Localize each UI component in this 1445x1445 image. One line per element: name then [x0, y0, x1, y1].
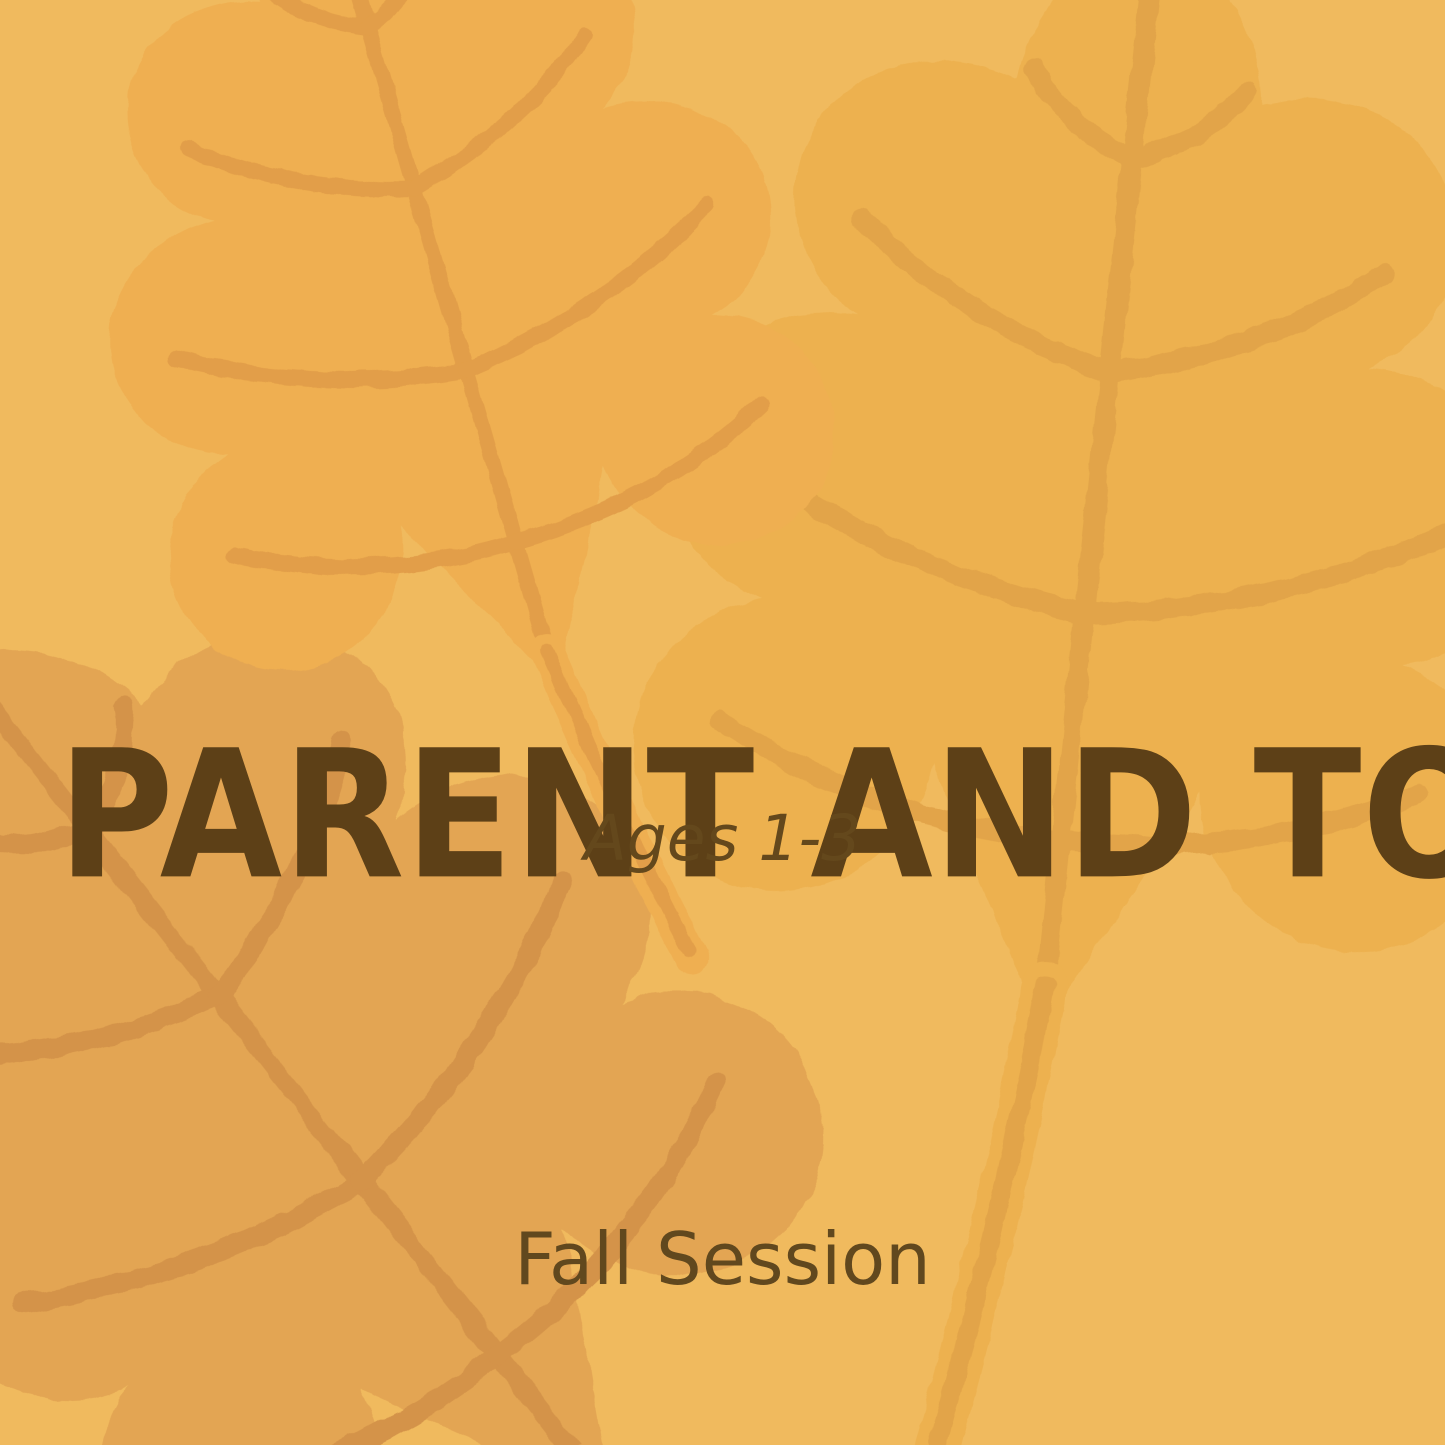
leaf-background-layer — [0, 0, 1445, 1445]
poster-canvas: PARENT AND TOT Ages 1-3 Fall Session — [0, 0, 1445, 1445]
